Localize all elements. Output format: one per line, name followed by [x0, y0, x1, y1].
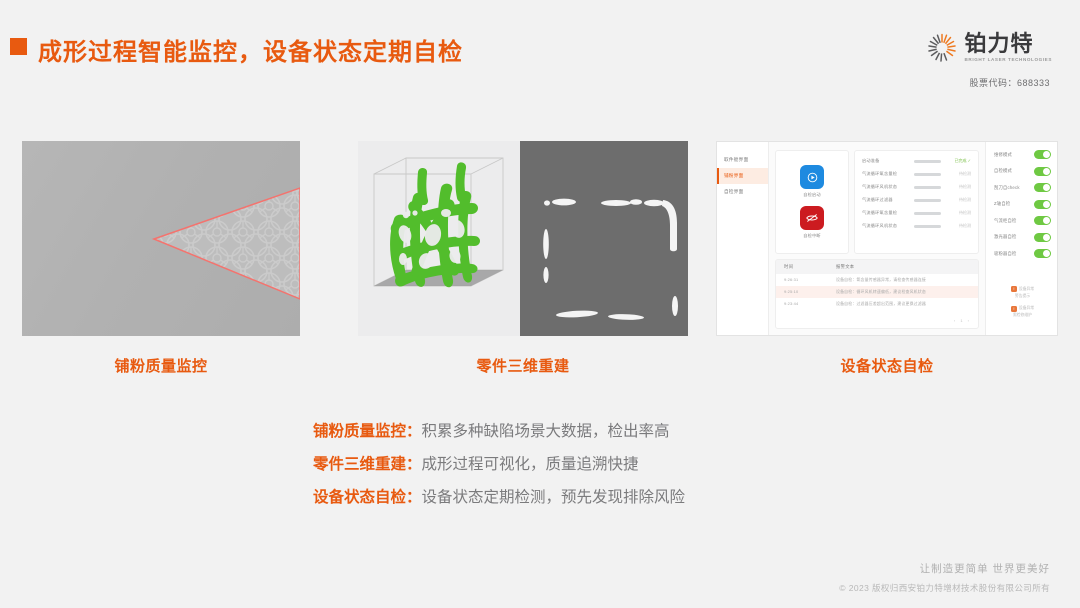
toggle-label: Z轴自检: [994, 201, 1010, 207]
self-check-stop-label: 自检中断: [800, 233, 824, 239]
status-label: 气流循环氧含量检: [862, 210, 910, 216]
status-value: 已完成 ✓: [945, 158, 971, 164]
logo-brand-en: BRIGHT LASER TECHNOLOGIES: [965, 58, 1052, 63]
bullet-value: 设备状态定期检测，预先发现排除风险: [422, 489, 686, 506]
status-progress-bar: [914, 160, 941, 163]
lattice-part-model: [358, 141, 520, 336]
dashboard-main: 自检启动 自检中断 启动准备: [769, 142, 985, 335]
cell-text: 设备自检：循环风机转速偏低，建议检查风机状态: [836, 289, 970, 295]
table-header-text: 报警文本: [836, 264, 970, 270]
image-part-3d-reconstruction: [358, 141, 688, 336]
toggle-row[interactable]: 维修模式: [994, 150, 1051, 159]
status-value: 待检测: [945, 223, 971, 229]
self-check-start[interactable]: 自检启动: [800, 165, 824, 198]
table-row[interactable]: 9:25:10 设备自检：循环风机转速偏低，建议检查风机状态: [776, 286, 978, 298]
self-check-start-label: 自检启动: [800, 192, 824, 198]
self-check-actions-card: 自检启动 自检中断: [775, 150, 849, 254]
play-circle-icon: [800, 165, 824, 189]
alarm-log-table: 时间 报警文本 9:26:31 设备自检：氧含量传感器异常，请检查传感器连接 9…: [775, 259, 979, 329]
toggle-row[interactable]: 自检模式: [994, 167, 1051, 176]
bullet-key: 设备状态自检：: [313, 489, 422, 506]
bullet-line-3: 设备状态自检：设备状态定期检测，预先发现排除风险: [313, 481, 833, 514]
status-progress-bar: [914, 212, 941, 215]
image-powder-quality-monitoring: [22, 141, 300, 336]
warning-badge-line2: 需检修维护: [994, 313, 1051, 318]
page-title: 成形过程智能监控，设备状态定期自检: [38, 32, 463, 67]
caption-part-3d-reconstruction: 零件三维重建: [358, 355, 688, 376]
self-check-stop[interactable]: 自检中断: [800, 206, 824, 239]
footer-slogan: 让制造更简单 世界更美好: [839, 561, 1050, 576]
cell-time: 9:26:31: [784, 277, 836, 283]
dashboard-toggle-panel: 维修模式 自检模式 刮刀自check Z轴自检 气流柜自检 激光器自检: [985, 142, 1057, 335]
status-row: 启动准备 已完成 ✓: [862, 158, 971, 164]
3d-model-viewport: [358, 141, 520, 336]
status-label: 气流循环风机状态: [862, 184, 910, 190]
warning-badge-top: ! 设备异常: [994, 306, 1051, 312]
cell-time: 9:25:10: [784, 289, 836, 295]
toggle-switch[interactable]: [1034, 183, 1051, 192]
scan-trace-viewport: [520, 141, 688, 336]
dashboard-root: 取件舱界面 铺粉界面 自检界面 自检启动: [717, 142, 1057, 335]
stop-eye-icon: [800, 206, 824, 230]
toggle-switch[interactable]: [1034, 167, 1051, 176]
toggle-label: 气流柜自检: [994, 218, 1016, 224]
status-progress-bar: [914, 199, 941, 202]
warning-badges: ! 设备异常 警告提示 ! 设备异常 需检修维护: [994, 286, 1051, 329]
status-progress-bar: [914, 186, 941, 189]
warning-badge-line1: 设备异常: [1019, 306, 1034, 311]
cell-time: 9:23:44: [784, 301, 836, 307]
status-progress-bar: [914, 225, 941, 228]
logo-wordmark: 铂力特 BRIGHT LASER TECHNOLOGIES: [965, 34, 1052, 63]
caption-powder-quality-monitoring: 铺粉质量监控: [22, 355, 300, 376]
status-value: 待检测: [945, 197, 971, 203]
status-row: 气流循环风机状态 待检测: [862, 223, 971, 229]
toggle-switch[interactable]: [1034, 216, 1051, 225]
bullet-line-1: 铺粉质量监控：积累多种缺陷场景大数据，检出率高: [313, 415, 833, 448]
dashboard-top-row: 自检启动 自检中断 启动准备: [775, 150, 979, 254]
toggle-label: 激光器自检: [994, 234, 1016, 240]
toggle-switch[interactable]: [1034, 249, 1051, 258]
status-value: 待检测: [945, 184, 971, 190]
sidebar-item-1[interactable]: 铺粉界面: [717, 168, 768, 184]
bullet-key: 铺粉质量监控：: [313, 423, 422, 440]
table-header-time: 时间: [784, 264, 836, 270]
sidebar-item-0[interactable]: 取件舱界面: [717, 152, 768, 168]
status-row: 气流循环氧含量检 待检测: [862, 210, 971, 216]
toggle-row[interactable]: Z轴自检: [994, 200, 1051, 209]
sidebar-item-2[interactable]: 自检界面: [717, 184, 768, 200]
warning-badge-line2: 警告提示: [994, 294, 1051, 299]
logo-row: 铂力特 BRIGHT LASER TECHNOLOGIES: [912, 30, 1052, 66]
company-logo-block: 铂力特 BRIGHT LASER TECHNOLOGIES 股票代码：68833…: [912, 30, 1052, 89]
warning-badge: ! 设备异常 需检修维护: [994, 306, 1051, 319]
toggle-switch[interactable]: [1034, 200, 1051, 209]
status-value: 待检测: [945, 210, 971, 216]
status-label: 气流循环风机状态: [862, 223, 910, 229]
bullet-key: 零件三维重建：: [313, 456, 422, 473]
table-row[interactable]: 9:26:31 设备自检：氧含量传感器异常，请检查传感器连接: [776, 274, 978, 286]
table-header: 时间 报警文本: [776, 260, 978, 274]
status-label: 气流循环氧含量检: [862, 171, 910, 177]
table-row[interactable]: 9:23:44 设备自检：过滤器压差超出范围，建议更换过滤器: [776, 298, 978, 310]
toggle-row[interactable]: 激光器自检: [994, 233, 1051, 242]
self-check-status-card: 启动准备 已完成 ✓ 气流循环氧含量检 待检测 气流循环风机状态 待检测: [854, 150, 979, 254]
toggle-switch[interactable]: [1034, 150, 1051, 159]
slide-header: 成形过程智能监控，设备状态定期自检: [0, 0, 1080, 100]
status-progress-bar: [914, 173, 941, 176]
bullet-list: 铺粉质量监控：积累多种缺陷场景大数据，检出率高 零件三维重建：成形过程可视化，质…: [313, 415, 833, 514]
bullet-value: 积累多种缺陷场景大数据，检出率高: [422, 423, 670, 440]
toggle-row[interactable]: 气流柜自检: [994, 216, 1051, 225]
warning-badge: ! 设备异常 警告提示: [994, 286, 1051, 299]
toggle-label: 刮刀自check: [994, 185, 1020, 191]
title-bullet-square: [10, 38, 27, 55]
caption-equipment-self-check: 设备状态自检: [716, 355, 1058, 376]
status-row: 气流循环氧含量检 待检测: [862, 171, 971, 177]
toggle-row[interactable]: 刮刀自check: [994, 183, 1051, 192]
logo-brand-cn: 铂力特: [965, 34, 1052, 56]
warning-badge-top: ! 设备异常: [994, 286, 1051, 292]
toggle-label: 维修模式: [994, 152, 1012, 158]
detection-triangle-overlay: [22, 141, 300, 336]
image-equipment-self-check-dashboard: 取件舱界面 铺粉界面 自检界面 自检启动: [716, 141, 1058, 336]
melt-track-trace: [520, 141, 688, 336]
warning-icon: !: [1011, 306, 1017, 312]
status-label: 气流循环过滤器: [862, 197, 910, 203]
status-row: 气流循环过滤器 待检测: [862, 197, 971, 203]
table-pagination[interactable]: ‹ 1 ›: [954, 318, 971, 323]
status-row: 气流循环风机状态 待检测: [862, 184, 971, 190]
warning-badge-line1: 设备异常: [1019, 287, 1034, 292]
cell-text: 设备自检：过滤器压差超出范围，建议更换过滤器: [836, 301, 970, 307]
bullet-value: 成形过程可视化，质量追溯快捷: [422, 456, 639, 473]
sunburst-icon: [926, 32, 958, 64]
status-label: 启动准备: [862, 158, 910, 164]
status-value: 待检测: [945, 171, 971, 177]
cell-text: 设备自检：氧含量传感器异常，请检查传感器连接: [836, 277, 970, 283]
toggle-switch[interactable]: [1034, 233, 1051, 242]
stock-code: 股票代码：688333: [912, 76, 1052, 89]
toggle-label: 自检模式: [994, 168, 1012, 174]
slide-footer: 让制造更简单 世界更美好 © 2023 版权归西安铂力特增材技术股份有限公司所有: [839, 561, 1050, 594]
toggle-row[interactable]: 吸粉器自检: [994, 249, 1051, 258]
toggle-label: 吸粉器自检: [994, 251, 1016, 257]
bullet-line-2: 零件三维重建：成形过程可视化，质量追溯快捷: [313, 448, 833, 481]
dashboard-sidebar: 取件舱界面 铺粉界面 自检界面: [717, 142, 769, 335]
footer-copyright: © 2023 版权归西安铂力特增材技术股份有限公司所有: [839, 582, 1050, 594]
warning-icon: !: [1011, 286, 1017, 292]
